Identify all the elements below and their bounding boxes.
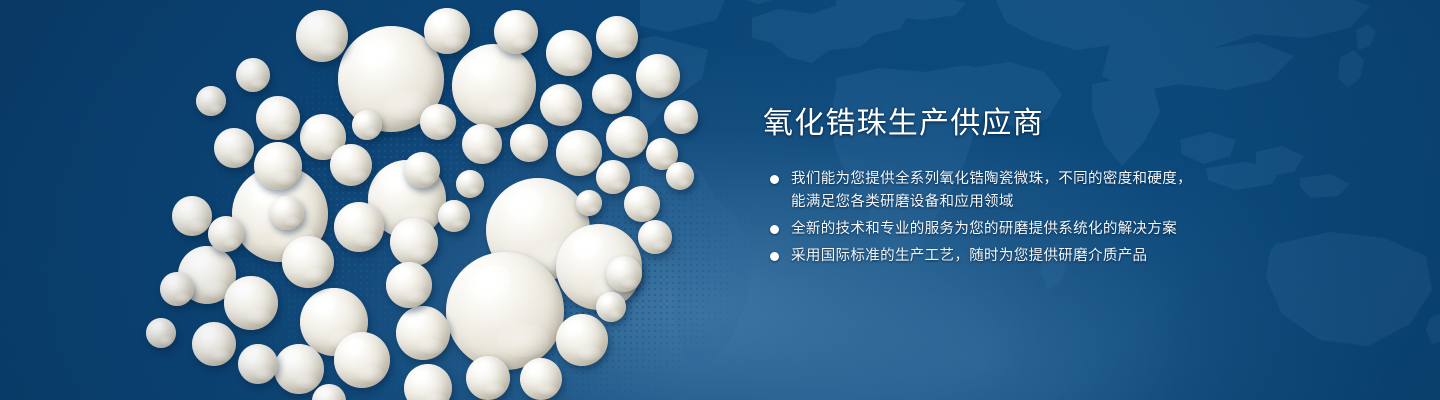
feature-item-2-line-1: 全新的技术和专业的服务为您的研磨提供系统化的解决方案: [791, 218, 1283, 241]
feature-item-2: 全新的技术和专业的服务为您的研磨提供系统化的解决方案: [763, 218, 1283, 241]
feature-item-3-line-1: 采用国际标准的生产工艺，随时为您提供研磨介质产品: [791, 245, 1283, 268]
hero-banner: 氧化锆珠生产供应商 我们能为您提供全系列氧化锆陶瓷微珠，不同的密度和硬度， 能满…: [0, 0, 1440, 400]
feature-list: 我们能为您提供全系列氧化锆陶瓷微珠，不同的密度和硬度， 能满足您各类研磨设备和应…: [763, 168, 1283, 268]
bullet-dot-icon: [770, 175, 779, 184]
banner-headline: 氧化锆珠生产供应商: [763, 104, 1283, 144]
feature-item-1-line-2: 能满足您各类研磨设备和应用领域: [791, 191, 1283, 214]
bullet-dot-icon: [770, 225, 779, 234]
feature-item-1-line-1: 我们能为您提供全系列氧化锆陶瓷微珠，不同的密度和硬度，: [791, 168, 1283, 191]
banner-copy: 氧化锆珠生产供应商 我们能为您提供全系列氧化锆陶瓷微珠，不同的密度和硬度， 能满…: [763, 104, 1283, 268]
feature-item-1: 我们能为您提供全系列氧化锆陶瓷微珠，不同的密度和硬度， 能满足您各类研磨设备和应…: [763, 168, 1283, 214]
bullet-dot-icon: [770, 252, 779, 261]
feature-item-3: 采用国际标准的生产工艺，随时为您提供研磨介质产品: [763, 245, 1283, 268]
